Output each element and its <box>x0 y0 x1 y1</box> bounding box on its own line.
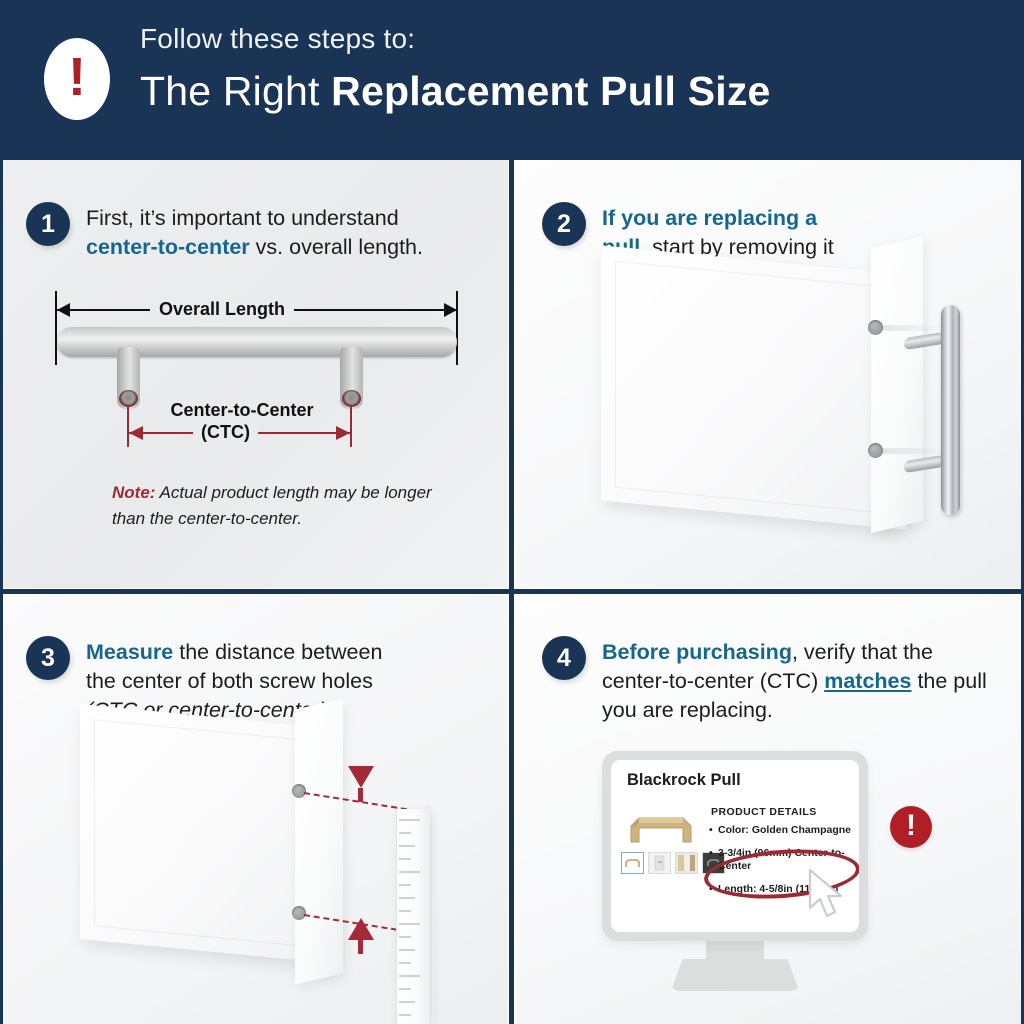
step1-text-a: First, it’s important to understand <box>86 206 399 230</box>
step-panel-3: 3 Measure the distance between the cente… <box>0 596 508 1024</box>
thumbnail-3[interactable] <box>675 852 698 874</box>
grid-divider-horizontal <box>0 589 1024 594</box>
screw-hole-top <box>868 320 883 335</box>
cabinet-door-edge <box>871 236 923 533</box>
header-kicker: Follow these steps to: <box>140 22 1004 56</box>
arrow-up-icon <box>348 918 374 940</box>
step-text-4: Before purchasing, verify that the cente… <box>602 638 992 725</box>
cabinet-door-edge <box>295 698 343 984</box>
motion-streak-bottom <box>882 448 944 454</box>
infographic-sheet: ! Follow these steps to: The Right Repla… <box>0 0 1024 1024</box>
header-banner: ! Follow these steps to: The Right Repla… <box>0 0 1024 160</box>
step-text-1: First, it’s important to understand cent… <box>86 204 458 262</box>
pull-dimension-diagram: Overall Length Center-to-Center (CTC) <box>45 295 470 460</box>
step-badge-1: 1 <box>26 202 70 246</box>
product-image <box>625 804 697 846</box>
step1-text-b: vs. overall length. <box>250 235 423 259</box>
ruler-graphic <box>396 809 430 1024</box>
pull-post-right <box>340 347 363 409</box>
page-title: The Right Replacement Pull Size <box>140 66 1004 116</box>
product-details-heading: PRODUCT DETAILS <box>711 806 817 818</box>
ctc-arrow-left-icon <box>129 426 143 440</box>
step-panel-2: 2 If you are replacing a pull, start by … <box>516 160 1024 588</box>
header-text-block: Follow these steps to: The Right Replace… <box>140 22 1004 116</box>
arrow-down-stem <box>358 788 363 802</box>
step-panel-1: 1 First, it’s important to understand ce… <box>0 160 508 588</box>
exclamation-glyph: ! <box>906 811 916 841</box>
ctc-arrow-right-icon <box>336 426 350 440</box>
alert-exclamation-icon: ! <box>890 806 932 848</box>
step1-accent: center-to-center <box>86 235 250 259</box>
thumbnail-2[interactable] <box>648 852 671 874</box>
monitor-neck <box>706 941 764 963</box>
grid-edge-left <box>0 160 3 1024</box>
mouse-pointer-icon <box>807 868 853 922</box>
cabinet-door-panel <box>601 245 906 529</box>
alert-exclamation-icon: ! <box>44 38 110 120</box>
monitor-base <box>671 959 799 991</box>
steps-grid: 1 First, it’s important to understand ce… <box>0 160 1024 1024</box>
note-label: Note: <box>112 483 155 502</box>
title-light: The Right <box>140 68 331 114</box>
overall-length-label: Overall Length <box>150 298 294 320</box>
step1-note: Note: Actual product length may be longe… <box>112 480 452 532</box>
ctc-label-line1: Center-to-Center <box>157 399 327 421</box>
thumbnail-1[interactable] <box>621 852 644 874</box>
product-bullet-color: Color: Golden Champagne <box>709 824 859 838</box>
ctc-stem-right <box>350 405 352 447</box>
arrow-up-stem <box>358 940 363 954</box>
matches-link[interactable]: matches <box>824 669 911 693</box>
step4-accent: Before purchasing <box>602 640 792 664</box>
exclamation-glyph: ! <box>68 50 86 104</box>
measure-illustration <box>0 596 508 1024</box>
monitor-frame: Blackrock Pull <box>602 751 868 941</box>
arrow-down-icon <box>348 766 374 788</box>
motion-streak-top <box>882 325 944 331</box>
bar-pull-graphic <box>941 305 960 515</box>
product-page-screen: Blackrock Pull <box>611 760 859 932</box>
note-body: Actual product length may be longer than… <box>112 483 432 528</box>
title-bold: Replacement Pull Size <box>331 68 770 114</box>
overall-arrow-right-icon <box>444 303 457 317</box>
golden-pull-graphic <box>625 804 697 846</box>
ctc-label-line2: (CTC) <box>193 421 258 443</box>
step-badge-4: 4 <box>542 636 586 680</box>
product-title: Blackrock Pull <box>627 771 741 790</box>
overall-arrow-left-icon <box>57 303 70 317</box>
cabinet-pull-illustration <box>516 160 1024 588</box>
cabinet-door-panel <box>80 704 330 963</box>
pull-post-left <box>117 347 140 409</box>
screw-hole-bottom <box>868 443 883 458</box>
step-panel-4: 4 Before purchasing, verify that the cen… <box>516 596 1024 1024</box>
